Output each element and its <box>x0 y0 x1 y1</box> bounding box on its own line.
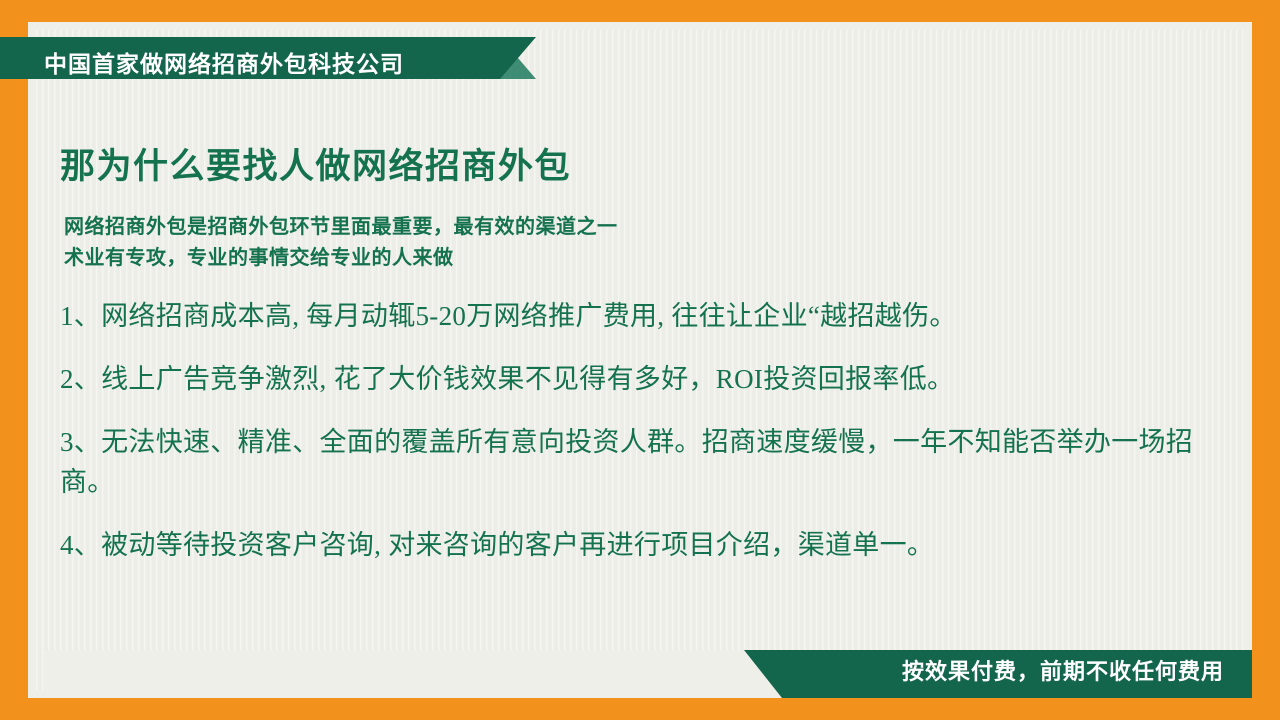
top-banner-label: 中国首家做网络招商外包科技公司 <box>44 45 404 79</box>
list-item: 2、线上广告竞争激烈, 花了大价钱效果不见得有多好，ROI投资回报率低。 <box>60 359 1200 399</box>
footer-notch-shape <box>44 650 744 698</box>
subheading-line-1: 网络招商外包是招商外包环节里面最重要，最有效的渠道之一 <box>64 212 618 243</box>
list-item: 1、网络招商成本高, 每月动辄5-20万网络推广费用, 往往让企业“越招越伤。 <box>60 296 1200 336</box>
subheading-line-2: 术业有专攻，专业的事情交给专业的人来做 <box>64 243 618 274</box>
footer-label: 按效果付费，前期不收任何费用 <box>902 654 1224 686</box>
subheading: 网络招商外包是招商外包环节里面最重要，最有效的渠道之一 术业有专攻，专业的事情交… <box>64 212 618 274</box>
list-item: 3、无法快速、精准、全面的覆盖所有意向投资人群。招商速度缓慢，一年不知能否举办一… <box>60 422 1200 502</box>
footer-notch-tail-shape <box>744 650 782 698</box>
top-banner-tail-shape <box>500 37 536 79</box>
slide-canvas: 中国首家做网络招商外包科技公司 那为什么要找人做网络招商外包 网络招商外包是招商… <box>0 0 1280 720</box>
page-title: 那为什么要找人做网络招商外包 <box>60 138 571 189</box>
list-item: 4、被动等待投资客户咨询, 对来咨询的客户再进行项目介绍，渠道单一。 <box>60 525 1200 565</box>
body-list: 1、网络招商成本高, 每月动辄5-20万网络推广费用, 往往让企业“越招越伤。 … <box>60 296 1200 588</box>
